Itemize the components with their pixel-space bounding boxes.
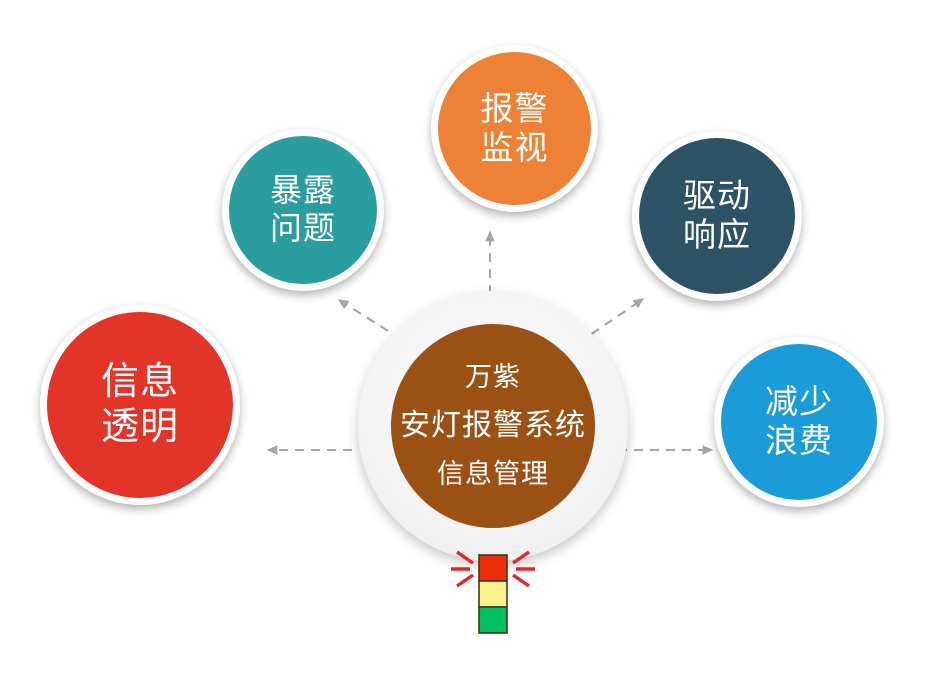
center-hub[interactable]: 万紫 安灯报警系统 信息管理 [358, 291, 628, 561]
andon-light-tower [443, 548, 543, 648]
andon-green-lamp [479, 607, 507, 633]
andon-yellow-lamp [479, 581, 507, 607]
andon-red-lamp [479, 555, 507, 581]
node-information-transparency-disc: 信息 透明 [47, 312, 233, 498]
node-drive-response-line1: 驱动 [683, 177, 751, 216]
node-reduce-waste-line1: 减少 [765, 383, 833, 422]
node-information-transparency-line1: 信息 [101, 360, 179, 405]
center-hub-line2: 安灯报警系统 [400, 411, 586, 441]
node-alarm-monitoring-line1: 报警 [481, 90, 549, 129]
center-hub-line1: 万紫 [465, 364, 521, 391]
node-expose-problems[interactable]: 暴露 问题 [222, 129, 384, 291]
node-reduce-waste[interactable]: 减少 浪费 [714, 337, 884, 507]
andon-rays-left [451, 552, 473, 586]
node-drive-response-line2: 响应 [683, 216, 751, 255]
node-alarm-monitoring[interactable]: 报警 监视 [431, 45, 598, 212]
node-drive-response-disc: 驱动 响应 [639, 138, 795, 294]
node-information-transparency[interactable]: 信息 透明 [40, 305, 240, 505]
node-alarm-monitoring-line2: 监视 [481, 129, 549, 168]
node-alarm-monitoring-disc: 报警 监视 [438, 52, 591, 205]
node-drive-response[interactable]: 驱动 响应 [632, 131, 802, 301]
node-expose-problems-disc: 暴露 问题 [229, 136, 377, 284]
andon-rays-right [513, 552, 535, 586]
node-reduce-waste-disc: 减少 浪费 [721, 344, 877, 500]
diagram-canvas: 报警 监视 暴露 问题 驱动 响应 信息 透明 [0, 0, 939, 680]
center-hub-line3: 信息管理 [437, 461, 549, 488]
node-expose-problems-line1: 暴露 [270, 172, 336, 210]
node-expose-problems-line2: 问题 [270, 210, 336, 248]
center-hub-disc: 万紫 安灯报警系统 信息管理 [391, 324, 595, 528]
node-reduce-waste-line2: 浪费 [765, 422, 833, 461]
node-information-transparency-line2: 透明 [101, 405, 179, 450]
